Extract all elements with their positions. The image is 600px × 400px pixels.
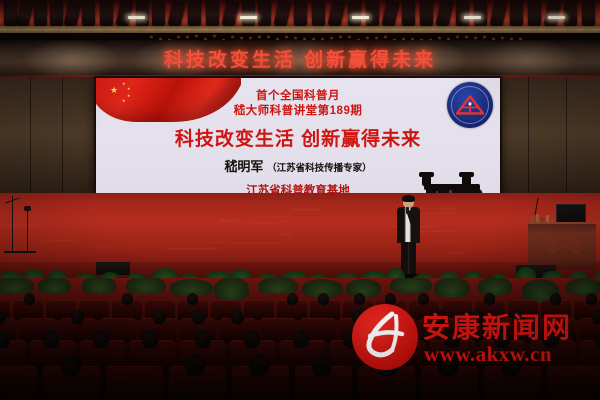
audience-member-head [592,310,600,325]
stage-spotlight [115,0,133,28]
stage-spotlight [528,1,541,27]
wall-plant [38,278,71,294]
stage-spotlight [348,1,361,27]
ceiling-light-dot [348,36,351,38]
wall-seam [62,77,63,195]
speaker-affiliation: （江苏省科技传播专家） [267,163,372,174]
wall-plant [214,278,249,300]
audience-member-head [185,354,205,376]
stage-spotlight [136,1,149,27]
floor-reflection [244,223,278,224]
ceiling-light-dot [339,36,342,38]
ceiling-light-dot [501,37,504,39]
floor-reflection [290,209,320,210]
ceiling-light-dot [465,36,468,38]
akxw-logo-glyph [352,304,418,370]
audience-member-head [142,330,158,348]
audience-member-head [61,354,81,376]
audience-member-head [0,330,10,348]
handheld-microphone [406,207,409,214]
presenter-hair [402,195,415,202]
stage-spotlight [435,0,453,28]
audience-member-head [153,310,166,325]
stage-spotlight [188,1,201,27]
ceiling-light-dot [456,36,459,38]
stage-spotlight [420,1,433,27]
speaker-name: 嵇明军 [224,159,263,174]
stage-spotlight [242,1,255,27]
audience-member-head [249,354,269,376]
floor-reflection [432,241,457,242]
mic-stand-base-2 [19,251,36,253]
stage-spotlight [510,1,523,27]
watermark: 安康新闻网 www.akxw.cn [352,300,592,380]
wall-plant [434,278,470,298]
wall-plant [82,278,116,294]
wall-seam [566,77,567,195]
ceiling-light-dot [294,37,297,39]
ceiling-light-dot [240,37,243,39]
stage-spotlight [273,0,291,28]
ceiling-light-dot [258,36,261,38]
ceiling-light-dot [213,35,216,37]
audience-member-head [231,310,244,325]
stage-spotlight [34,1,47,27]
floor-reflection [42,240,77,241]
ceiling-light-dot [375,37,378,39]
stage-spotlight [206,1,219,27]
truss-led-strip [240,16,257,19]
audience-member-head [93,330,109,348]
floor-reflection [438,208,457,209]
floor-reflection [232,243,282,244]
audience-member-head [71,310,84,325]
podium-panel-diamond [564,240,588,254]
stage-spotlight [489,0,507,28]
audience-member-head [43,330,59,348]
floor-reflection [282,234,292,235]
audience-member-head [287,293,298,305]
audience-seat [0,366,37,400]
ceiling-light-dot [231,36,234,38]
wall-panel [0,77,96,195]
floor-reflection [350,234,377,235]
wall-plant [258,278,298,294]
ceiling-light-dot [384,36,387,38]
ceiling-light-dot [186,36,189,38]
stage-spotlight [152,1,165,27]
led-banner-text: 科技改变生活 创新赢得未来 [0,40,600,76]
ceiling-light-dot [177,36,180,38]
audience-member-head [24,293,35,305]
flag-star-small-1: ★ [122,82,126,86]
slide-heading-line2: 嵇大师科普讲堂第189期 [96,102,500,118]
wall-panel [498,77,600,195]
mic-stand-pole-2 [27,210,28,252]
mic-stand-head-2 [24,206,31,211]
stage-spotlight [63,0,81,28]
stage-spotlight [312,1,325,27]
slide-heading-line1: 首个全国科普月 [96,87,500,103]
truss-led-strip [548,16,565,19]
ceiling-light-dot [474,37,477,39]
audience-member-head [192,310,205,325]
auditorium-photo: 科技改变生活 创新赢得未来 ★ ★ ★ ★ ★ 首个全国科 [0,0,600,400]
floor-reflection [256,216,291,217]
floor-reflection [334,256,352,257]
wall-plant [478,278,512,295]
wall-plant [390,278,432,293]
stage-spotlight [381,0,399,28]
stage-spotlight [327,0,345,28]
wall-plant [566,278,600,295]
floor-reflection [96,247,117,248]
stage-spotlight [167,0,185,28]
audience-seat [244,300,274,320]
floor-reflection [208,242,230,243]
audience-member-head [195,330,211,348]
audience-member-head [595,330,600,348]
stage-spotlight [15,0,33,28]
audience-member-head [122,293,133,305]
ceiling-light-dot [195,35,198,37]
stage-spotlight [366,1,379,27]
audience-seat [106,366,163,400]
truss-led-strip [352,16,369,19]
stage-spotlight [456,1,469,27]
floor-reflection [220,220,237,221]
stage-spotlight [82,1,95,27]
stage-spotlight [258,1,271,27]
floor-reflection [446,252,463,253]
floor-reflection [1,225,42,226]
floor-reflection [167,248,216,249]
stage-spotlight [50,1,63,27]
slide-main-title: 科技改变生活 创新赢得未来 [96,124,500,151]
stage-spotlight [4,1,17,27]
stage-spotlight [582,1,595,27]
ceiling-light-dot [249,37,252,39]
wall-plant [0,278,34,294]
ceiling-light-dot [267,36,270,38]
wall-seam [30,77,31,195]
wooden-podium [528,222,596,270]
audience-member-head [312,354,332,376]
ceiling-light-dot [483,36,486,38]
floor-reflection [306,226,331,227]
mic-stand-pole-1 [12,196,13,252]
ceiling-light-dot [150,36,153,38]
ceiling-light-dot [285,36,288,38]
stage-spotlight [474,1,487,27]
watermark-site-name: 安康新闻网 [422,306,572,346]
floor-reflection [85,211,93,212]
wall-seam [528,77,529,195]
ceiling-light-dot [330,37,333,39]
stage-spotlight [294,1,307,27]
truss-led-strip [128,16,145,19]
audience-member-head [244,330,260,348]
podium-panel-diamond [540,240,564,254]
wall-plant [126,278,166,294]
stage-spotlight [564,1,577,27]
stage-spotlight [543,0,561,28]
watermark-url: www.akxw.cn [424,342,552,367]
audience-member-head [293,330,309,348]
truss-led-strip [464,16,481,19]
stage-spotlight [100,1,113,27]
stage-spotlight [402,1,415,27]
stage-spotlight [221,0,239,28]
